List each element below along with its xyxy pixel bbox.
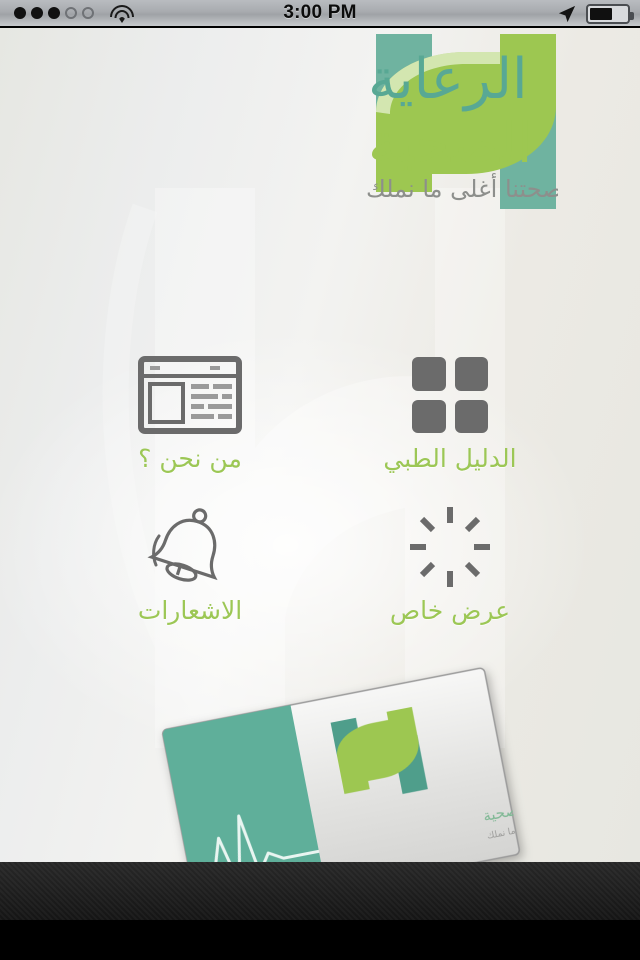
status-bar: 3:00 PM xyxy=(0,0,640,28)
brand-line1: الرعاية xyxy=(368,47,528,112)
device-bezel-bottom xyxy=(0,920,640,960)
brand-logo: الرعاية الصحية صحتنا أغلى ما نملك xyxy=(0,28,640,213)
battery-icon xyxy=(586,4,630,24)
menu-item-notifications[interactable]: الاشعارات xyxy=(60,498,320,650)
starburst-icon xyxy=(408,504,492,590)
business-card-photo: الرعاية الصحية صحتنا أغلى ما نملك xyxy=(161,666,522,862)
menu-label-about-us: من نحن ؟ xyxy=(138,444,242,473)
webpage-icon xyxy=(138,352,242,438)
brand-line2: الصحية xyxy=(368,111,532,176)
menu-label-notifications: الاشعارات xyxy=(138,596,242,625)
bottom-toolbar xyxy=(0,862,640,920)
menu-item-special-offer[interactable]: عرض خاص xyxy=(320,498,580,650)
menu-label-medical-guide: الدليل الطبي xyxy=(383,444,516,473)
main-menu: الدليل الطبي xyxy=(60,346,580,650)
status-bar-clock: 3:00 PM xyxy=(0,2,640,24)
phone-screen: 3:00 PM xyxy=(0,0,640,960)
status-bar-right xyxy=(558,0,630,28)
grid-icon xyxy=(412,352,488,438)
menu-label-special-offer: عرض خاص xyxy=(390,596,510,625)
brand-tagline: صحتنا أغلى ما نملك xyxy=(366,173,558,203)
app-content: الرعاية الصحية صحتنا أغلى ما نملك الدليل… xyxy=(0,28,640,862)
location-arrow-icon xyxy=(558,5,576,23)
brand-logo-artwork: الرعاية الصحية صحتنا أغلى ما نملك xyxy=(118,34,558,209)
bell-icon xyxy=(144,504,236,590)
menu-item-medical-guide[interactable]: الدليل الطبي xyxy=(320,346,580,498)
menu-item-about-us[interactable]: من نحن ؟ xyxy=(60,346,320,498)
